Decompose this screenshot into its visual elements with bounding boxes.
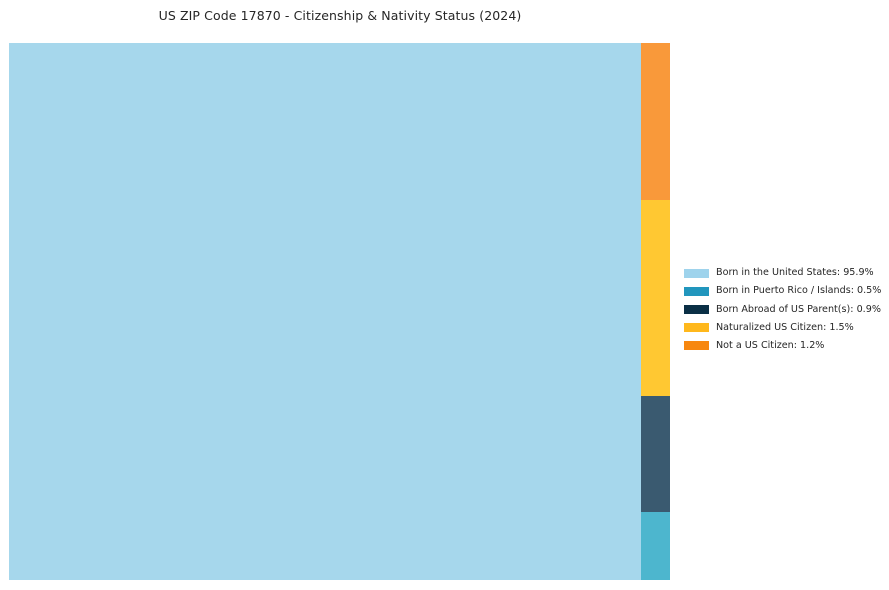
chart-figure: US ZIP Code 17870 - Citizenship & Nativi… bbox=[0, 0, 889, 590]
legend-swatch-icon bbox=[684, 287, 709, 296]
legend-swatch-icon bbox=[684, 323, 709, 332]
legend-swatch-icon bbox=[684, 341, 709, 350]
chart-legend: Born in the United States: 95.9%Born in … bbox=[684, 264, 884, 355]
legend-item[interactable]: Born in Puerto Rico / Islands: 0.5% bbox=[684, 282, 884, 300]
legend-swatch-icon bbox=[684, 269, 709, 278]
legend-item[interactable]: Born Abroad of US Parent(s): 0.9% bbox=[684, 300, 884, 318]
legend-swatch-icon bbox=[684, 305, 709, 314]
legend-item-label: Born in Puerto Rico / Islands: 0.5% bbox=[716, 286, 881, 296]
legend-item-label: Not a US Citizen: 1.2% bbox=[716, 341, 824, 351]
treemap-tile[interactable]: Born in the United States bbox=[9, 43, 641, 580]
legend-item-label: Born Abroad of US Parent(s): 0.9% bbox=[716, 305, 881, 315]
treemap-plot-area: Born in the United StatesNot a US Citize… bbox=[9, 43, 670, 580]
legend-item[interactable]: Born in the United States: 95.9% bbox=[684, 264, 884, 282]
treemap-tile[interactable]: Not a US Citizen bbox=[641, 43, 670, 200]
treemap-tile[interactable]: Born in Puerto Rico / Islands bbox=[641, 512, 670, 580]
treemap-tile[interactable]: Naturalized US Citizen bbox=[641, 200, 670, 396]
legend-item-label: Born in the United States: 95.9% bbox=[716, 268, 874, 278]
chart-title: US ZIP Code 17870 - Citizenship & Nativi… bbox=[0, 8, 680, 23]
legend-item[interactable]: Not a US Citizen: 1.2% bbox=[684, 337, 884, 355]
treemap-tile[interactable]: Born Abroad of US Parent(s) bbox=[641, 396, 670, 512]
legend-item[interactable]: Naturalized US Citizen: 1.5% bbox=[684, 319, 884, 337]
legend-item-label: Naturalized US Citizen: 1.5% bbox=[716, 323, 854, 333]
